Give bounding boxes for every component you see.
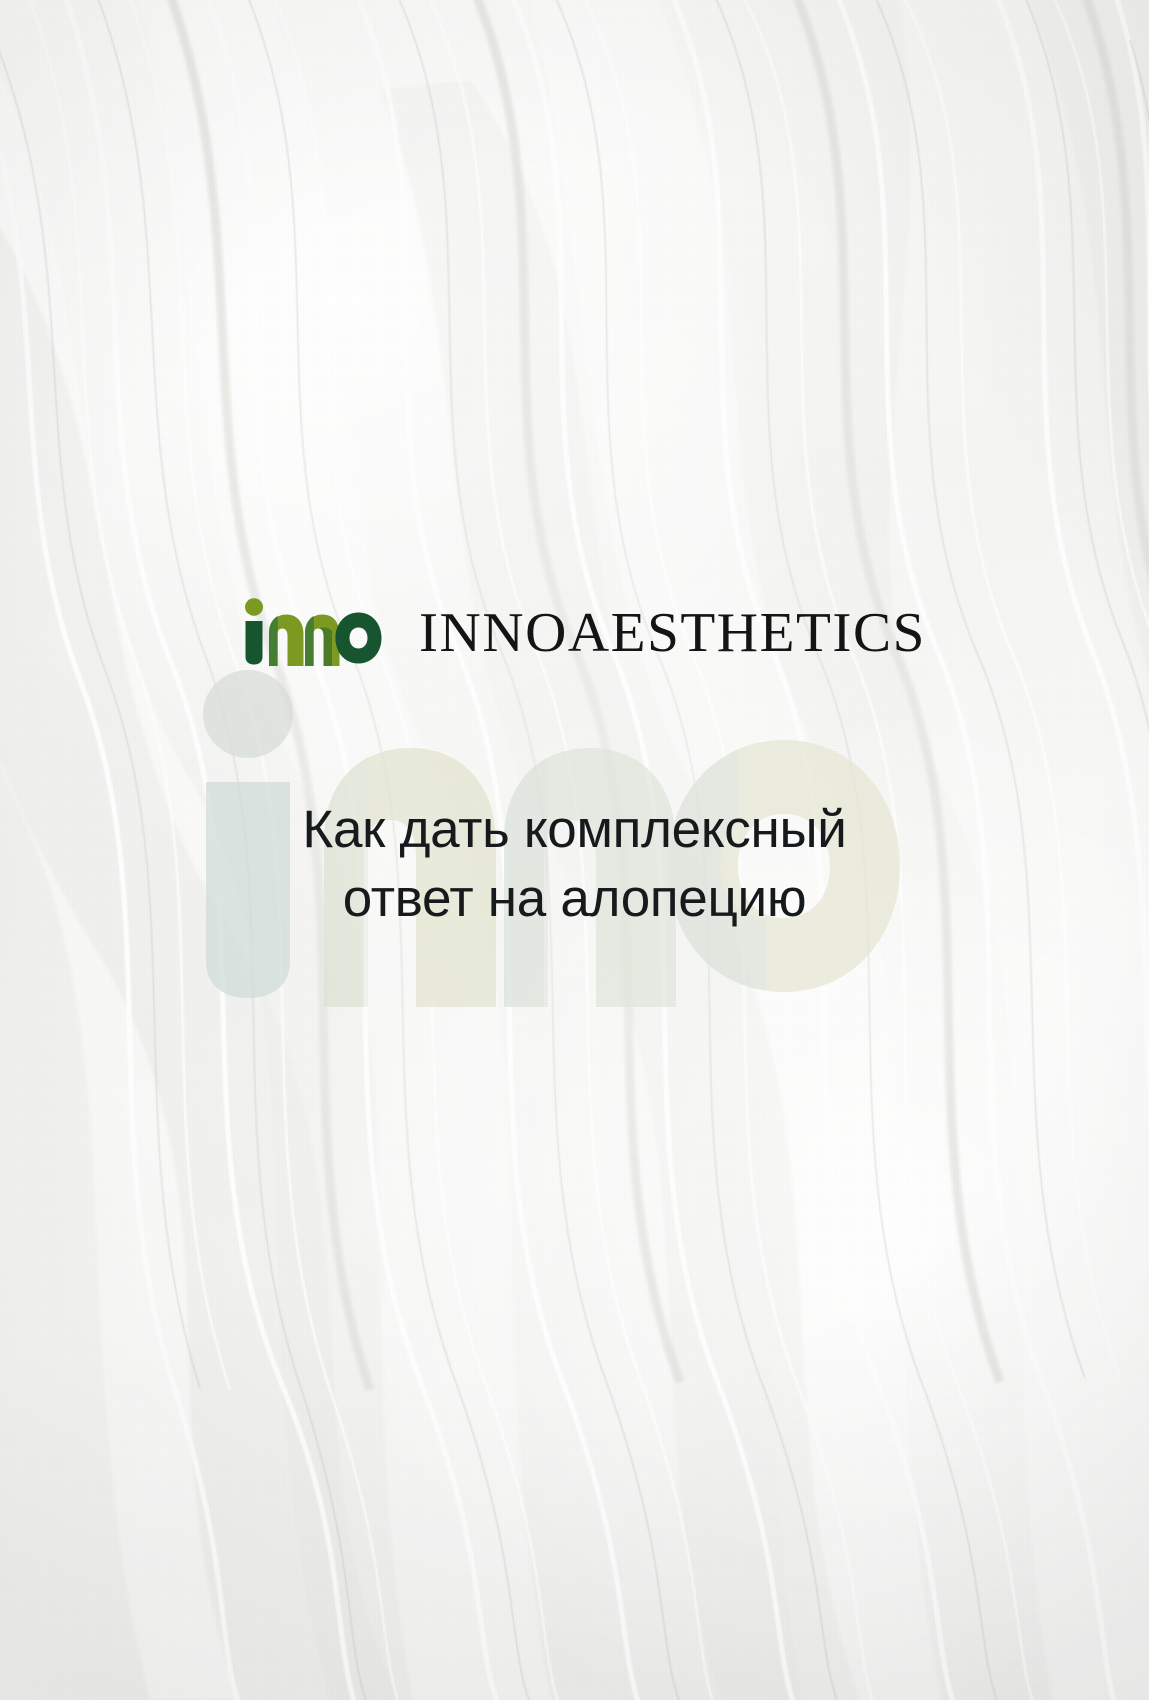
page-title-line-1: Как дать комплексный (90, 795, 1059, 864)
innoaesthetics-logo-icon (234, 596, 382, 670)
page-title: Как дать комплексный ответ на алопецию (0, 795, 1149, 934)
page-title-line-2: ответ на алопецию (90, 864, 1059, 933)
brand-wordmark: INNOAESTHETICS (419, 605, 926, 661)
poster-canvas: INNOAESTHETICS Как дать комплексный отве… (0, 0, 1149, 1700)
brand-lockup: INNOAESTHETICS (0, 596, 1149, 670)
